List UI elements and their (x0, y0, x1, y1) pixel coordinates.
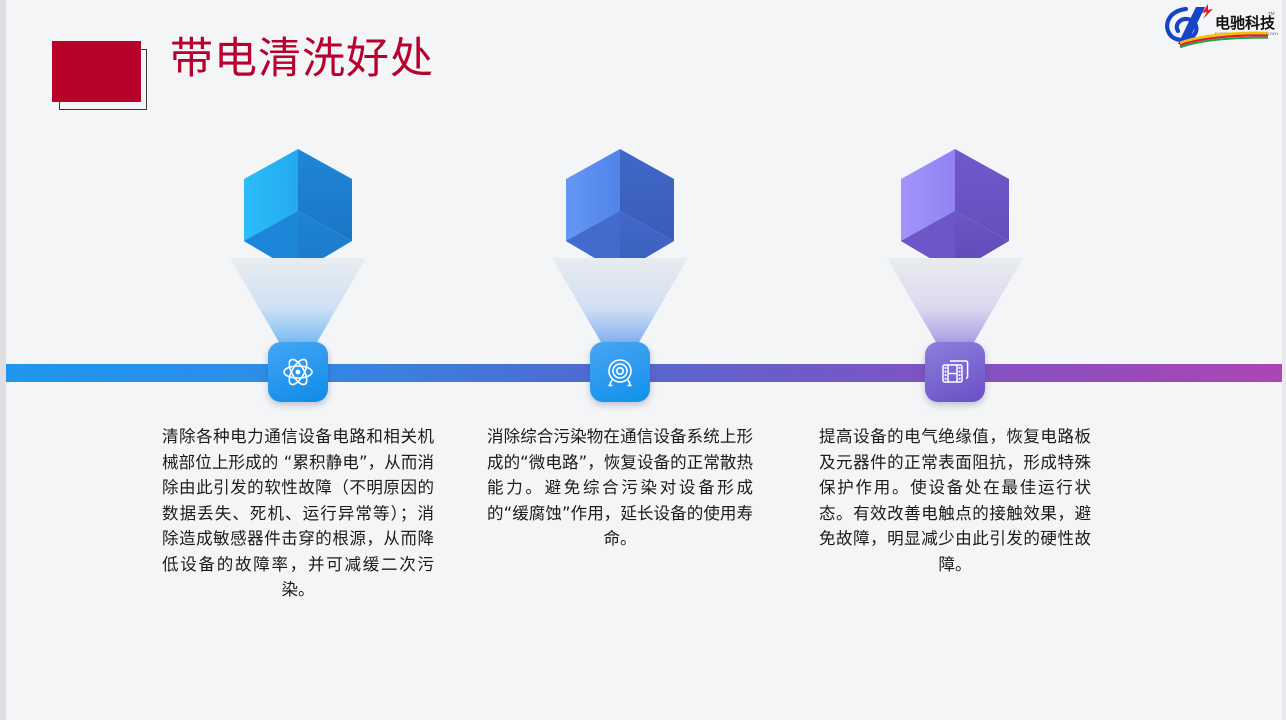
icon-tile-3[interactable] (925, 342, 985, 402)
icon-tile-2[interactable] (590, 342, 650, 402)
benefit-text-2: 消除综合污染物在通信设备系统上形成的“微电路”，恢复设备的正常散热能力。避免综合… (487, 424, 753, 552)
target-icon (604, 356, 636, 388)
right-edge-strip (1282, 0, 1286, 720)
icon-tile-1[interactable] (268, 342, 328, 402)
left-edge-strip (0, 0, 6, 720)
film-strip-icon (939, 356, 971, 388)
title-accent-square (52, 41, 141, 102)
logo-chinese-text: 电驰科技 (1215, 14, 1276, 32)
benefit-column-3: 提高设备的电气绝缘值，恢复电路板及元器件的正常表面阻抗，形成特殊保护作用。使设备… (790, 0, 1120, 720)
company-logo: 电驰科技 ELECTRICAL CHI TECHNOLOGY TM (1160, 2, 1278, 48)
atom-icon (282, 356, 314, 388)
benefit-text-3: 提高设备的电气绝缘值，恢复电路板及元器件的正常表面阻抗，形成特殊保护作用。使设备… (819, 424, 1091, 577)
logo-svg: 电驰科技 ELECTRICAL CHI TECHNOLOGY TM (1160, 2, 1278, 48)
logo-trademark: TM (1268, 11, 1275, 16)
benefit-text-1: 清除各种电力通信设备电路和相关机械部位上形成的 “累积静电”，从而消除由此引发的… (162, 424, 434, 603)
benefit-column-2: 消除综合污染物在通信设备系统上形成的“微电路”，恢复设备的正常散热能力。避免综合… (455, 0, 785, 720)
slide-root: 带电清洗好处 电驰科技 ELECTRICAL CHI TECHNOLOGY TM (0, 0, 1286, 720)
benefit-column-1: 清除各种电力通信设备电路和相关机械部位上形成的 “累积静电”，从而消除由此引发的… (133, 0, 463, 720)
